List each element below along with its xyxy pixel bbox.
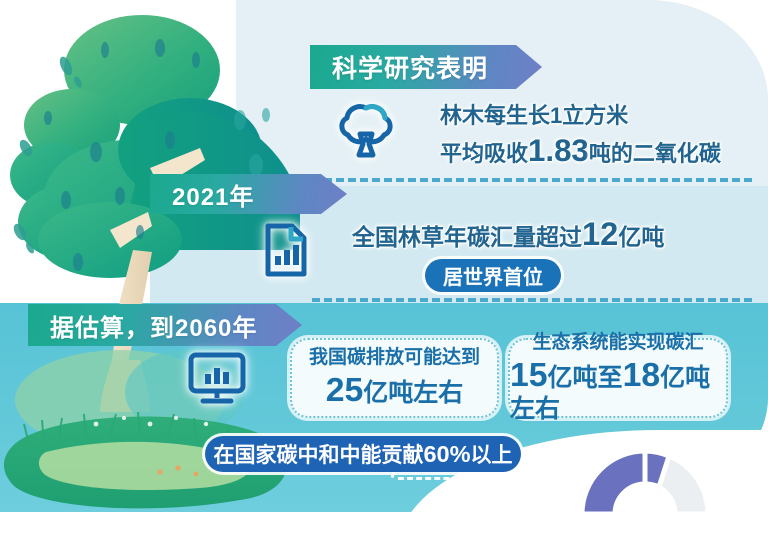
emission-label: 我国碳排放可能达到 (309, 347, 480, 369)
banner-research[interactable]: 科学研究表明 (310, 45, 542, 89)
sink-prefix: 全国林草年碳汇量超过 (352, 224, 582, 250)
sink-value-low: 15 (510, 356, 548, 394)
statement-carbon-sink-total: 全国林草年碳汇量超过12亿吨 (352, 215, 664, 253)
absorption-suffix: 吨的二氧化碳 (589, 141, 721, 166)
sink-value: 12 (582, 215, 618, 252)
sink-value-high: 18 (623, 356, 661, 394)
absorption-value: 1.83 (528, 133, 589, 168)
gauge-donut-icon (570, 432, 720, 527)
document-chart-icon (262, 222, 310, 283)
infographic-canvas: 科学研究表明 林木每生长1立方米 平均吸收1.83吨的二氧化碳 2021年 全国… (0, 0, 768, 547)
emission-amount: 25亿吨左右 (326, 371, 464, 410)
sink-card-label: 生态系统能实现碳汇 (532, 332, 703, 354)
emission-unit: 亿吨左右 (363, 379, 463, 407)
card-ecosystem-sink: 生态系统能实现碳汇 15亿吨至18亿吨左右 (508, 338, 728, 418)
dashed-separator-3 (398, 477, 558, 480)
banner-year-2021[interactable]: 2021年 (150, 174, 347, 214)
emission-value: 25 (326, 371, 364, 409)
badge-carbon-neutral-contribution[interactable]: 在国家碳中和中能贡献60%以上 (205, 436, 521, 472)
card-carbon-emission: 我国碳排放可能达到 25亿吨左右 (290, 338, 499, 418)
tree-icon (336, 100, 396, 167)
dashed-separator-2 (312, 298, 752, 302)
sink-suffix: 亿吨 (618, 224, 664, 250)
sink-mid: 亿吨至 (548, 364, 623, 392)
contribution-prefix: 在国家碳中和中能贡献 (213, 444, 423, 467)
monitor-chart-icon (186, 350, 248, 411)
sink-card-amount: 15亿吨至18亿吨左右 (510, 356, 726, 424)
banner-estimate-2060[interactable]: 据估算，到2060年 (28, 304, 302, 346)
contribution-text: 在国家碳中和中能贡献60%以上 (213, 439, 512, 469)
badge-world-first[interactable]: 居世界首位 (425, 259, 561, 292)
contribution-value: 60% (423, 441, 470, 467)
contribution-suffix: 以上 (471, 444, 513, 467)
dashed-separator-1 (312, 178, 752, 182)
statement-tree-growth: 林木每生长1立方米 (440, 98, 628, 130)
statement-co2-absorption: 平均吸收1.83吨的二氧化碳 (440, 133, 721, 169)
absorption-prefix: 平均吸收 (440, 141, 528, 166)
